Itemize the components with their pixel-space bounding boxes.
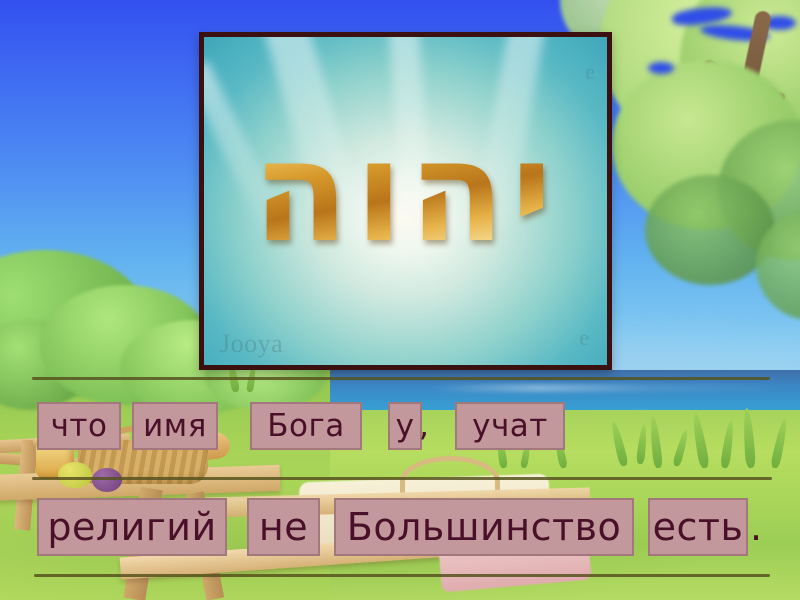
period-punctuation: . xyxy=(750,498,762,556)
word-tile-bolshinstvo[interactable]: Большинство xyxy=(334,498,634,556)
hebrew-divine-name: יהוה xyxy=(204,123,607,263)
word-tile-boga[interactable]: Бога xyxy=(250,402,362,450)
word-tile-ne[interactable]: не xyxy=(247,498,320,556)
answer-line-1 xyxy=(32,377,770,380)
exercise-stage: יהוה Jooya e e что имя Бога у учат , рел… xyxy=(0,0,800,600)
word-tile-imya[interactable]: имя xyxy=(132,402,218,450)
word-tile-chto[interactable]: что xyxy=(37,402,121,450)
grapes xyxy=(58,462,92,488)
comma-punctuation: , xyxy=(419,402,429,450)
watermark-corner: e xyxy=(579,325,589,351)
answer-line-3 xyxy=(34,574,770,577)
word-tile-u[interactable]: у xyxy=(388,402,422,450)
tetragrammaton-image-card: יהוה Jooya e e xyxy=(199,32,612,370)
word-tile-est[interactable]: есть xyxy=(648,498,748,556)
watermark-right: e xyxy=(585,59,595,85)
lake-shimmer xyxy=(430,384,790,392)
answer-line-2 xyxy=(32,477,772,480)
canopy-sky-gap-3 xyxy=(648,62,674,74)
plum xyxy=(92,468,122,492)
word-tile-uchat[interactable]: учат xyxy=(455,402,565,450)
watermark-left: Jooya xyxy=(220,329,283,359)
word-tile-religiy[interactable]: религий xyxy=(37,498,227,556)
